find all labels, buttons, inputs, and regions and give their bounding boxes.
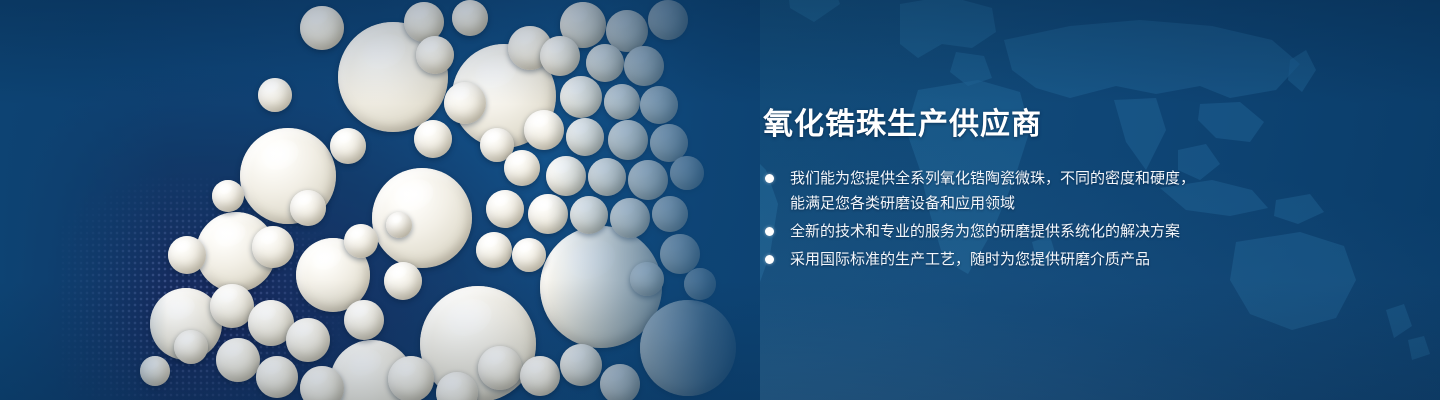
bullet-dot-icon (765, 227, 774, 236)
bullet-dot-icon (765, 255, 774, 264)
list-item: 全新的技术和专业的服务为您的研磨提供系统化的解决方案 (763, 219, 1283, 244)
list-item-line1: 采用国际标准的生产工艺，随时为您提供研磨介质产品 (790, 251, 1150, 268)
banner-copy: 氧化锆珠生产供应商 我们能为您提供全系列氧化锆陶瓷微珠，不同的密度和硬度， 能满… (763, 106, 1283, 275)
hero-banner: 氧化锆珠生产供应商 我们能为您提供全系列氧化锆陶瓷微珠，不同的密度和硬度， 能满… (0, 0, 1440, 400)
banner-headline: 氧化锆珠生产供应商 (763, 106, 1283, 144)
feature-list: 我们能为您提供全系列氧化锆陶瓷微珠，不同的密度和硬度， 能满足您各类研磨设备和应… (763, 166, 1283, 272)
list-item-line1: 我们能为您提供全系列氧化锆陶瓷微珠，不同的密度和硬度， (790, 170, 1195, 187)
bullet-dot-icon (765, 174, 774, 183)
list-item-line1: 全新的技术和专业的服务为您的研磨提供系统化的解决方案 (790, 223, 1180, 240)
list-item: 采用国际标准的生产工艺，随时为您提供研磨介质产品 (763, 247, 1283, 272)
list-item: 我们能为您提供全系列氧化锆陶瓷微珠，不同的密度和硬度， 能满足您各类研磨设备和应… (763, 166, 1283, 216)
list-item-line2: 能满足您各类研磨设备和应用领域 (790, 191, 1283, 216)
